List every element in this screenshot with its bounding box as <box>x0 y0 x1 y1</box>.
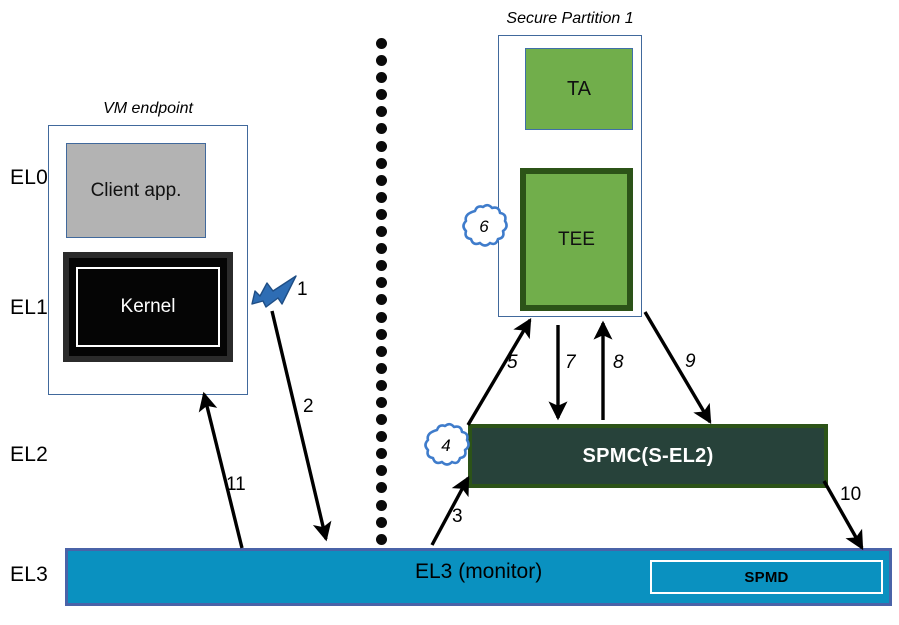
spmc-box: SPMC(S-EL2) <box>468 424 828 488</box>
el3-monitor-label: EL3 (monitor) <box>415 560 542 584</box>
step-label-5: 5 <box>507 352 518 374</box>
callout-4-label: 4 <box>424 424 468 468</box>
step-label-2: 2 <box>303 396 314 418</box>
arrow-5 <box>468 320 530 425</box>
client-app-box: Client app. <box>66 143 206 238</box>
lightning-bolt-icon <box>252 276 296 307</box>
kernel-box: Kernel <box>63 252 233 362</box>
arrow-2 <box>272 311 326 539</box>
arrow-3 <box>432 478 468 545</box>
step-label-10: 10 <box>840 484 861 506</box>
kernel-label: Kernel <box>76 267 220 347</box>
callout-4: 4 <box>424 424 468 468</box>
level-label-el0: EL0 <box>10 166 48 190</box>
secure-partition-title: Secure Partition 1 <box>470 10 670 28</box>
callout-6: 6 <box>462 205 506 249</box>
arrow-9 <box>645 312 710 422</box>
ta-box: TA <box>525 48 633 130</box>
spmd-box: SPMD <box>650 560 883 594</box>
step-label-8: 8 <box>613 352 624 374</box>
step-label-7: 7 <box>565 352 576 374</box>
diagram-canvas: EL0 EL1 EL2 EL3 VM endpoint Client app. … <box>0 0 899 625</box>
step-label-3: 3 <box>452 506 463 528</box>
level-label-el3: EL3 <box>10 563 48 587</box>
step-label-1: 1 <box>297 279 308 301</box>
tee-box: TEE <box>520 168 633 311</box>
step-label-9: 9 <box>685 351 696 373</box>
callout-6-label: 6 <box>462 205 506 249</box>
vm-endpoint-title: VM endpoint <box>48 100 248 118</box>
arrow-11 <box>204 394 242 548</box>
step-label-11: 11 <box>226 474 246 496</box>
level-label-el1: EL1 <box>10 296 48 320</box>
level-label-el2: EL2 <box>10 443 48 467</box>
secure-nonsecure-divider <box>376 38 390 548</box>
